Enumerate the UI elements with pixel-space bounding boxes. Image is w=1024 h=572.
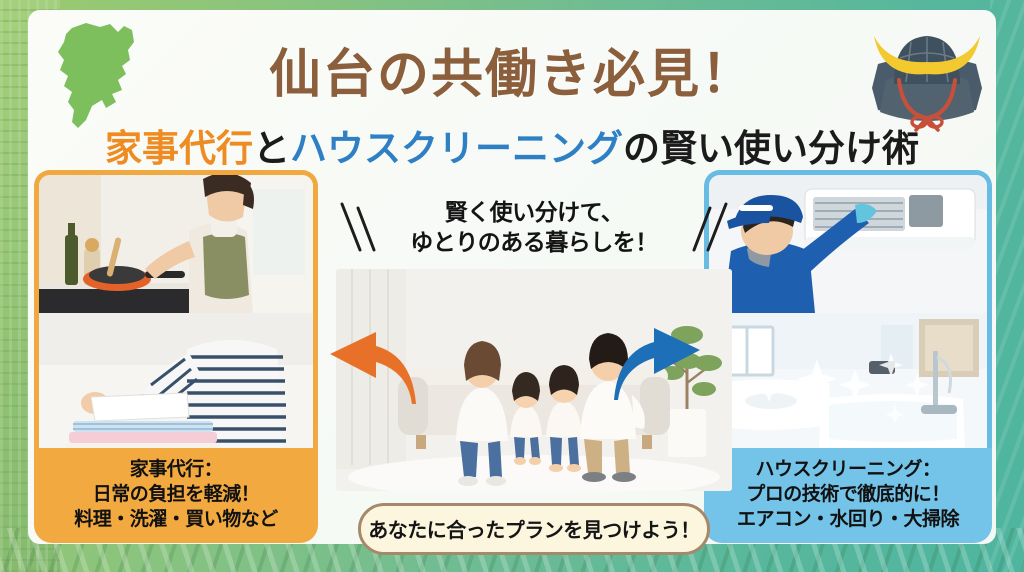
slash-decoration-right [690,202,730,254]
house-cleaning-caption-line-2: プロの技術で徹底的に！ [710,482,986,507]
page-title: 仙台の共働き必見！ [28,32,996,107]
center-headline-line-2: ゆとりのある暮らしを！ [382,228,686,258]
house-cleaning-photo-frame [704,170,992,448]
house-cleaning-caption: ハウスクリーニング： プロの技術で徹底的に！ エアコン・水回り・大掃除 [704,448,992,543]
housekeeping-panel: 家事代行： 日常の負担を軽減！ 料理・洗濯・買い物など [34,170,318,543]
woman-cooking-in-kitchen-photo [39,175,313,313]
sparkling-clean-bathroom-photo [709,313,987,448]
technician-cleaning-air-conditioner-photo [709,175,987,313]
house-cleaning-caption-line-1: ハウスクリーニング： [710,457,986,482]
housekeeping-photo-frame [34,170,318,448]
housekeeping-caption: 家事代行： 日常の負担を軽減！ 料理・洗濯・買い物など [34,448,318,543]
housekeeping-caption-line-3: 料理・洗濯・買い物など [40,507,312,532]
slash-decoration-left [338,202,378,254]
center-headline: 賢く使い分けて、 ゆとりのある暮らしを！ [336,196,732,265]
subtitle-part-conjunction: と [253,127,290,170]
subtitle-part-tail: の賢い使い分け術 [623,127,919,170]
woman-folding-laundry-photo [39,313,313,448]
house-cleaning-caption-line-3: エアコン・水回り・大掃除 [710,507,986,532]
arrow-to-housekeeping [320,332,416,408]
center-headline-line-1: 賢く使い分けて、 [382,198,686,228]
housekeeping-caption-line-2: 日常の負担を軽減！ [40,482,312,507]
page-subtitle: 家事代行とハウスクリーニングの賢い使い分け術 [28,118,996,172]
content-card: 仙台の共働き必見！ 家事代行とハウスクリーニングの賢い使い分け術 [28,10,996,544]
housekeeping-caption-line-1: 家事代行： [40,457,312,482]
subtitle-part-housekeeping: 家事代行 [105,127,253,170]
poster-root: 仙台の共働き必見！ 家事代行とハウスクリーニングの賢い使い分け術 [0,0,1024,572]
arrow-to-house-cleaning [614,328,710,404]
subtitle-part-house-cleaning: ハウスクリーニング [290,127,623,170]
cta-button[interactable]: あなたに合ったプランを見つけよう！ [358,503,710,555]
house-cleaning-panel: ハウスクリーニング： プロの技術で徹底的に！ エアコン・水回り・大掃除 [704,170,992,543]
